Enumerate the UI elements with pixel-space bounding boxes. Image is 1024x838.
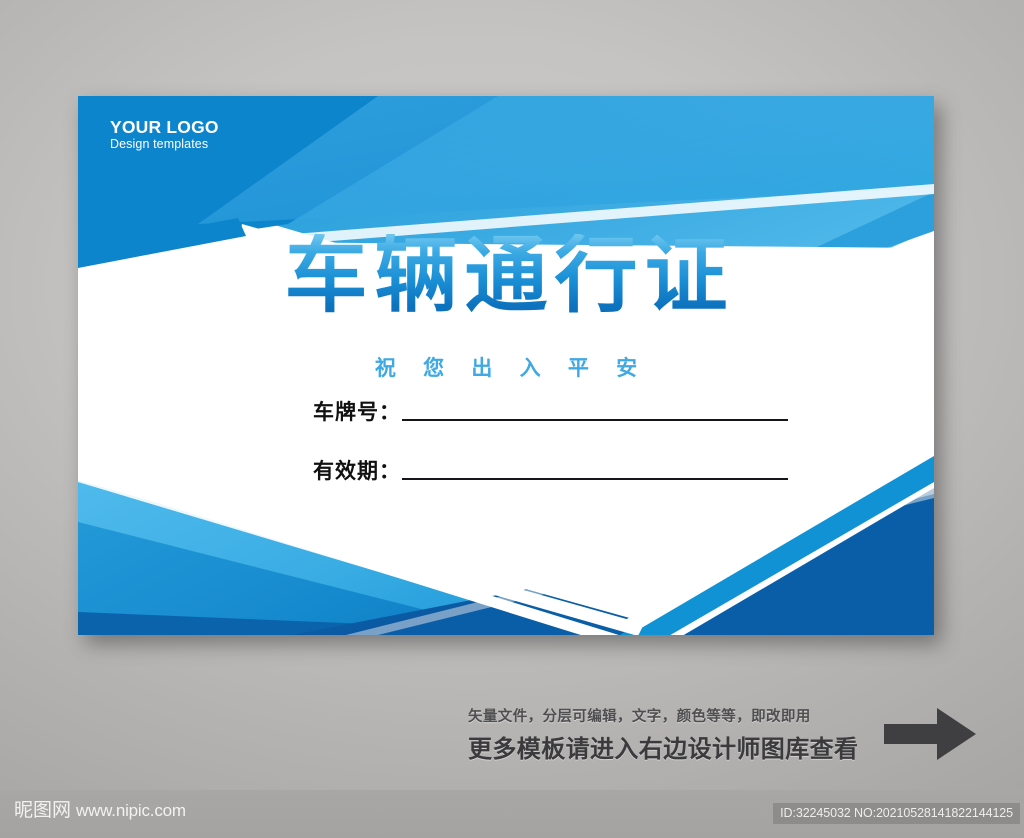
site-footer: 昵图网 www.nipic.com ID:32245032 NO:2021052…: [0, 790, 1024, 838]
logo-block[interactable]: YOUR LOGO Design templates: [110, 118, 219, 152]
logo-title: YOUR LOGO: [110, 118, 219, 136]
field-row-validity[interactable]: 有效期：: [313, 461, 788, 482]
card-surface: YOUR LOGO Design templates 车辆通行证 祝 您 出 入…: [78, 96, 934, 635]
logo-subtitle: Design templates: [110, 138, 219, 151]
page-subtitle: 祝 您 出 入 平 安: [78, 352, 934, 382]
footer-brand[interactable]: 昵图网 www.nipic.com: [14, 801, 186, 820]
page-title: 车辆通行证: [78, 234, 934, 317]
field-label-plate-number: 车牌号：: [313, 402, 401, 423]
promo-line-1: 矢量文件，分层可编辑，文字，颜色等等，即改即用: [468, 705, 874, 726]
footer-brand-url: www.nipic.com: [76, 802, 186, 820]
promo-block: 矢量文件，分层可编辑，文字，颜色等等，即改即用 更多模板请进入右边设计师图库查看: [468, 696, 978, 772]
promo-line-2: 更多模板请进入右边设计师图库查看: [468, 729, 874, 764]
vehicle-pass-card: YOUR LOGO Design templates 车辆通行证 祝 您 出 入…: [78, 96, 934, 635]
footer-id-badge: ID:32245032 NO:20210528141822144125: [773, 803, 1020, 824]
field-line-plate-number[interactable]: [402, 418, 788, 421]
field-row-plate-number[interactable]: 车牌号：: [313, 402, 788, 423]
footer-brand-name: 昵图网: [14, 801, 71, 820]
field-label-validity: 有效期：: [313, 461, 401, 482]
page-background: YOUR LOGO Design templates 车辆通行证 祝 您 出 入…: [0, 0, 1024, 838]
field-line-validity[interactable]: [402, 477, 788, 480]
arrow-right-icon: [882, 706, 978, 762]
promo-text: 矢量文件，分层可编辑，文字，颜色等等，即改即用 更多模板请进入右边设计师图库查看: [468, 705, 874, 764]
